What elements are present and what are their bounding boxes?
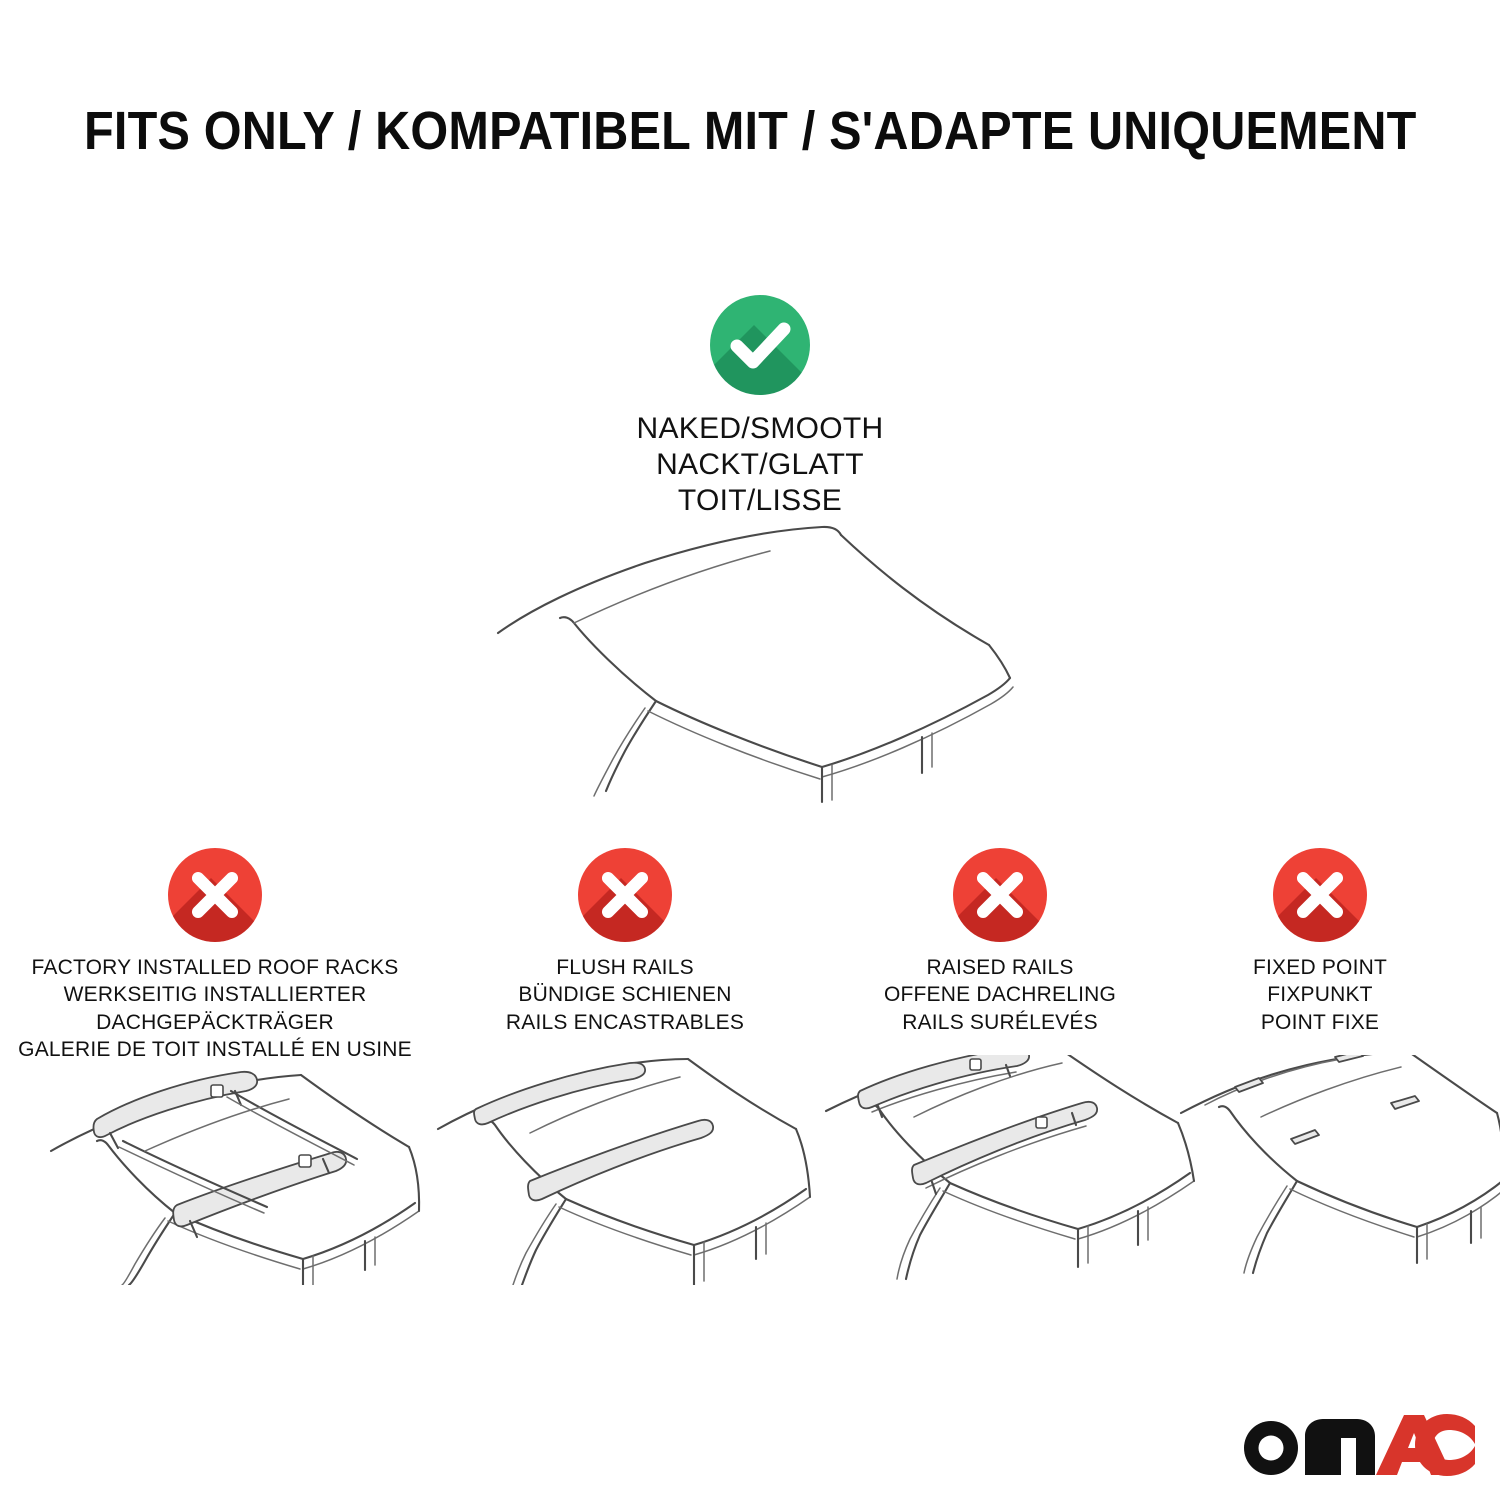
incompatible-option-fixed-point: FIXED POINT FIXPUNKT POINT FIXE xyxy=(1175,848,1465,1036)
page-title: FITS ONLY / KOMPATIBEL MIT / S'ADAPTE UN… xyxy=(0,103,1500,160)
omac-logo xyxy=(1235,1408,1475,1480)
x-circle-icon xyxy=(168,848,262,942)
option-label-line-3: RAILS ENCASTRABLES xyxy=(435,1009,815,1036)
x-circle-icon xyxy=(1273,848,1367,942)
compatible-label-line-3: TOIT/LISSE xyxy=(500,483,1020,519)
option-label-line-2: FIXPUNKT xyxy=(1175,981,1465,1008)
option-label-line-2: OFFENE DACHRELING xyxy=(810,981,1190,1008)
compatible-label-line-1: NAKED/SMOOTH xyxy=(500,411,1020,447)
option-label-line-1: RAISED RAILS xyxy=(810,954,1190,981)
option-label-line-3: DACHGEPÄCKTRÄGER xyxy=(15,1009,415,1036)
check-circle-icon xyxy=(710,295,810,395)
x-circle-icon xyxy=(953,848,1047,942)
incompatible-option-flush-rails: FLUSH RAILS BÜNDIGE SCHIENEN RAILS ENCAS… xyxy=(435,848,815,1036)
car-roof-naked-smooth-illustration xyxy=(470,515,1050,805)
option-label-line-2: WERKSEITIG INSTALLIERTER xyxy=(15,981,415,1008)
option-label-line-3: POINT FIXE xyxy=(1175,1009,1465,1036)
option-label-line-1: FLUSH RAILS xyxy=(435,954,815,981)
option-label-line-1: FIXED POINT xyxy=(1175,954,1465,981)
car-roof-raised-rails-illustration xyxy=(820,1055,1210,1285)
incompatible-option-factory-roof-racks: FACTORY INSTALLED ROOF RACKS WERKSEITIG … xyxy=(15,848,415,1063)
incompatible-option-raised-rails: RAISED RAILS OFFENE DACHRELING RAILS SUR… xyxy=(810,848,1190,1036)
page-title-text: FITS ONLY / KOMPATIBEL MIT / S'ADAPTE UN… xyxy=(84,103,1416,160)
x-circle-icon xyxy=(578,848,672,942)
option-label-line-3: RAILS SURÉLEVÉS xyxy=(810,1009,1190,1036)
car-roof-factory-roof-rack-illustration xyxy=(35,1055,435,1285)
compatible-section: NAKED/SMOOTH NACKT/GLATT TOIT/LISSE xyxy=(500,295,1020,519)
compatible-label-line-2: NACKT/GLATT xyxy=(500,447,1020,483)
option-label-line-2: BÜNDIGE SCHIENEN xyxy=(435,981,815,1008)
option-label-line-1: FACTORY INSTALLED ROOF RACKS xyxy=(15,954,415,981)
car-roof-fixed-point-illustration xyxy=(1175,1055,1500,1285)
car-roof-flush-rails-illustration xyxy=(430,1055,820,1285)
